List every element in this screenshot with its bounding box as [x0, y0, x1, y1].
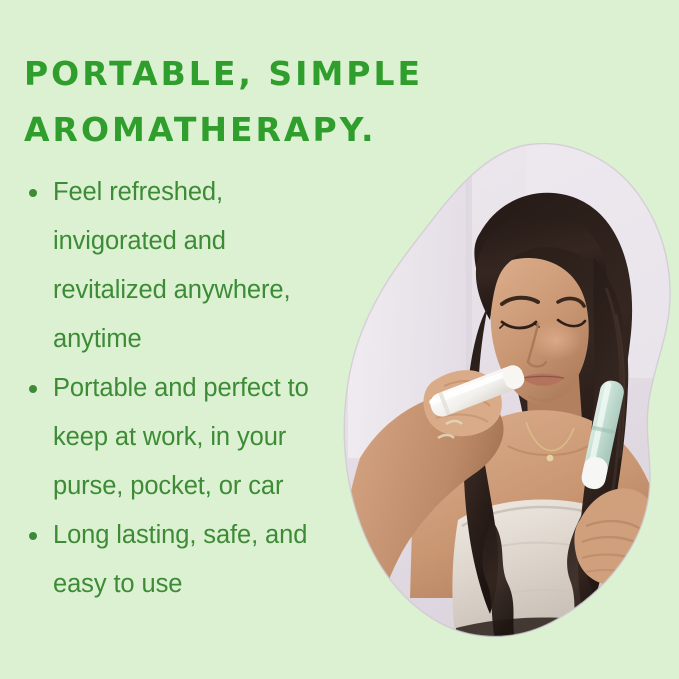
bullet-dot-icon — [29, 532, 37, 540]
list-item-label: Long lasting, safe, and easy to use — [53, 521, 307, 598]
list-item: Portable and perfect to keep at work, in… — [26, 364, 344, 511]
bullet-dot-icon — [29, 385, 37, 393]
list-item: Feel refreshed, invigorated and revitali… — [26, 168, 344, 364]
list-item-label: Feel refreshed, invigorated and revitali… — [53, 178, 290, 353]
list-item-label: Portable and perfect to keep at work, in… — [53, 374, 309, 500]
list-item: Long lasting, safe, and easy to use — [26, 511, 344, 609]
aromatherapy-product-infographic: Portable, simple aromatherapy. Feel refr… — [0, 0, 679, 679]
bullet-dot-icon — [29, 189, 37, 197]
benefits-list: Feel refreshed, invigorated and revitali… — [26, 168, 344, 609]
woman-using-aromatherapy-inhaler-photo — [330, 128, 679, 644]
